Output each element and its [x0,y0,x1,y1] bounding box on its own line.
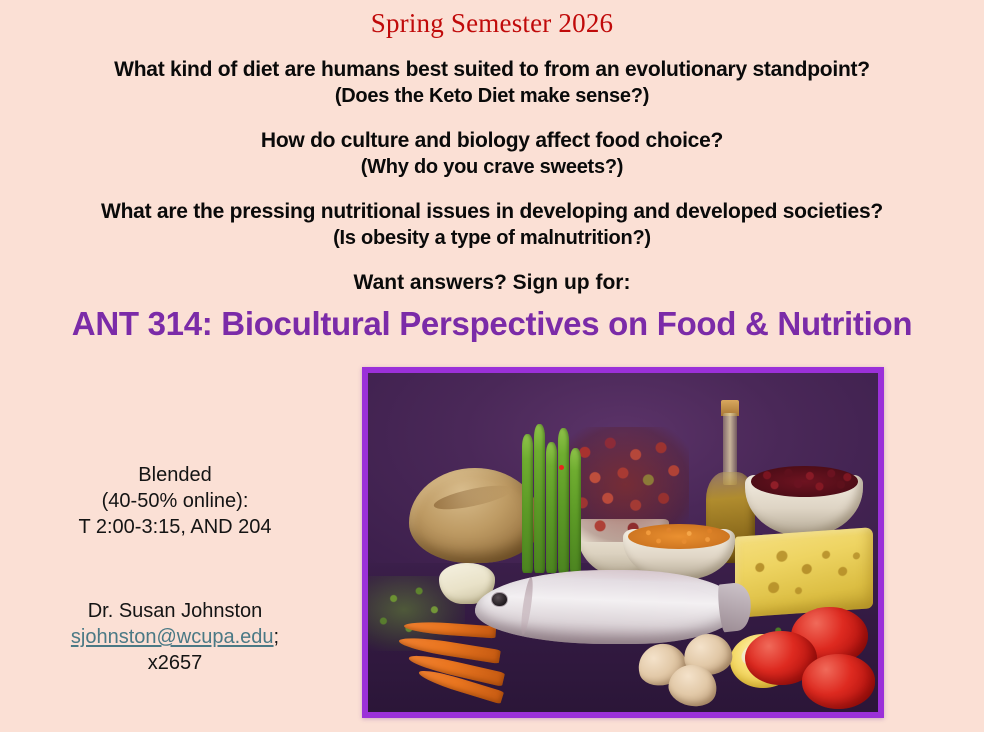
question-sub-2: (Why do you crave sweets?) [0,154,984,181]
question-main-3: What are the pressing nutritional issues… [0,198,984,225]
course-title: ANT 314: Biocultural Perspectives on Foo… [0,305,984,343]
kidney-beans-icon [751,466,858,497]
questions-section: What kind of diet are humans best suited… [0,56,984,296]
question-sub-1: (Does the Keto Diet make sense?) [0,83,984,110]
schedule-format: Blended [0,462,350,488]
contact-block: Dr. Susan Johnston sjohnston@wcupa.edu; … [0,598,350,676]
red-lentils-icon [628,524,730,549]
schedule-time-location: T 2:00-3:15, AND 204 [0,514,350,540]
call-to-action-text: Want answers? Sign up for: [0,269,984,296]
swiss-cheese-wedge-icon [735,528,873,619]
question-group-1: What kind of diet are humans best suited… [0,56,984,110]
semester-heading: Spring Semester 2026 [0,8,984,39]
asparagus-spear-icon [546,442,557,573]
red-marker-dot [559,465,564,470]
instructor-email-line: sjohnston@wcupa.edu; [0,624,350,650]
instructor-extension: x2657 [0,650,350,676]
instructor-name: Dr. Susan Johnston [0,598,350,624]
schedule-online-percent: (40-50% online): [0,488,350,514]
tomato-icon [802,654,876,708]
fish-gill-icon [519,577,535,636]
asparagus-spear-icon [570,448,581,573]
food-photo-frame [362,367,884,718]
question-group-2: How do culture and biology affect food c… [0,127,984,181]
asparagus-spear-icon [534,424,545,573]
question-group-3: What are the pressing nutritional issues… [0,198,984,252]
question-sub-3: (Is obesity a type of malnutrition?) [0,225,984,252]
whole-fish-icon [475,570,740,645]
food-photo [368,373,878,712]
email-suffix: ; [274,626,280,648]
asparagus-bundle-icon [521,424,587,573]
schedule-block: Blended (40-50% online): T 2:00-3:15, AN… [0,462,350,540]
question-main-2: How do culture and biology affect food c… [0,127,984,154]
fish-eye-icon [491,592,508,607]
question-main-1: What kind of diet are humans best suited… [0,56,984,83]
asparagus-spear-icon [522,434,533,573]
asparagus-spear-icon [558,428,569,573]
instructor-email-link[interactable]: sjohnston@wcupa.edu [71,626,274,648]
course-flyer: Spring Semester 2026 What kind of diet a… [0,0,984,732]
